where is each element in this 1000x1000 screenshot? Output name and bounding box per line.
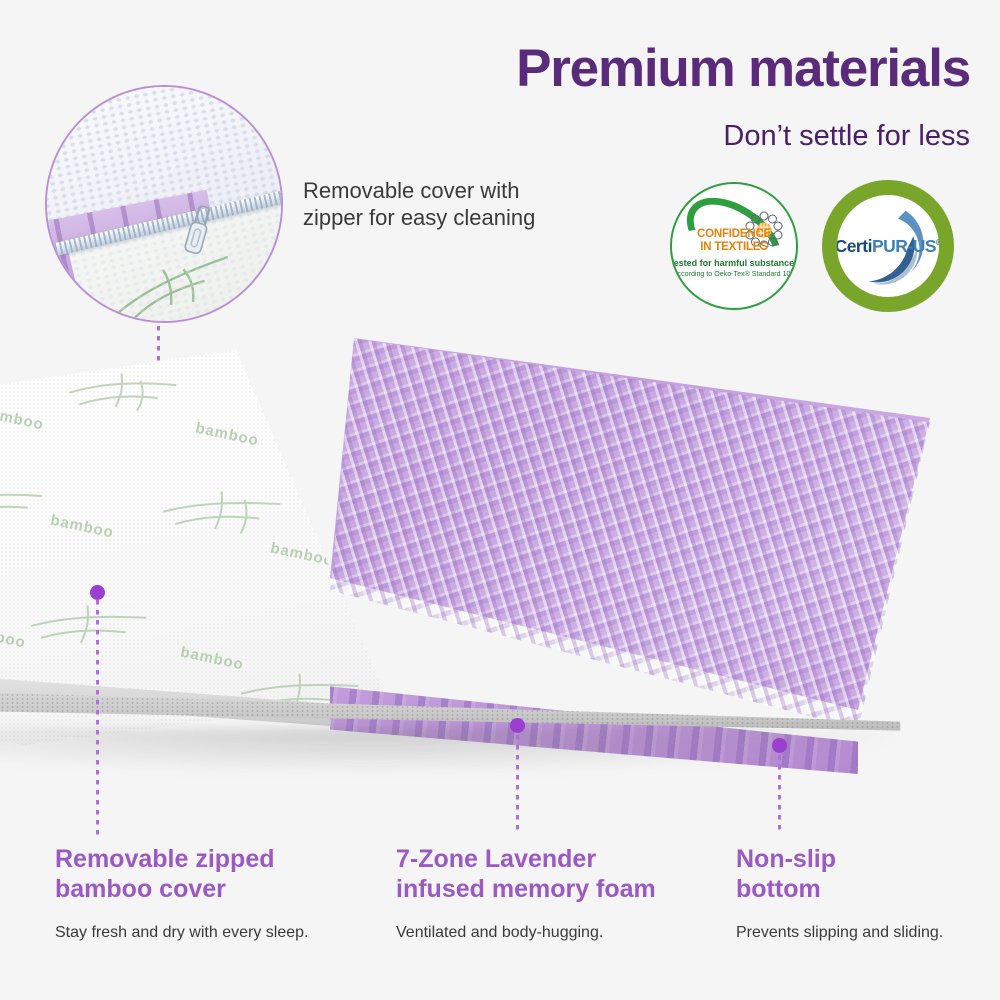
oeko-line1: CONFIDENCE (670, 228, 798, 241)
oeko-line4: according to Oeko-Tex® Standard 100 (670, 270, 798, 278)
mattress-illustration: bamboo bamboo bamboo bamboo bamboo bambo… (0, 330, 940, 770)
certification-badges: CONFIDENCE IN TEXTILES Tested for harmfu… (660, 182, 980, 314)
foam-egg-crate-texture (330, 330, 930, 750)
zipper-callout-line2: zipper for easy cleaning (303, 205, 603, 232)
oeko-line3: Tested for harmful substances (670, 258, 798, 268)
certipur-registered: ® (936, 238, 941, 247)
feature-subtitle: Ventilated and body-hugging. (396, 924, 716, 942)
zipper-detail-circle (45, 85, 283, 323)
feature-memory-foam: 7-Zone Lavender infused memory foam Vent… (396, 845, 716, 942)
feature-title: 7-Zone Lavender infused memory foam (396, 845, 716, 904)
callout-dot-nonslip (772, 738, 787, 753)
zipper-callout-line1: Removable cover with (303, 178, 603, 205)
feature-removable-cover: Removable zipped bamboo cover Stay fresh… (55, 845, 375, 942)
feature-subtitle: Stay fresh and dry with every sleep. (55, 924, 375, 942)
page-title: Premium materials (516, 38, 970, 99)
page-subtitle: Don’t settle for less (723, 120, 970, 153)
oeko-tex-badge: CONFIDENCE IN TEXTILES Tested for harmfu… (670, 182, 798, 310)
feature-list: Removable zipped bamboo cover Stay fresh… (0, 845, 1000, 965)
feature-title: Removable zipped bamboo cover (55, 845, 375, 904)
convoluted-memory-foam (330, 330, 930, 750)
feature-title: Non-slip bottom (736, 845, 996, 904)
callout-line-foam (516, 735, 519, 835)
oeko-line2: IN TEXTILES (670, 241, 798, 254)
certipur-label-light: PUR-US (872, 236, 936, 256)
product-infographic: Premium materials Don’t settle for less (0, 0, 1000, 1000)
feature-subtitle: Prevents slipping and sliding. (736, 924, 996, 942)
callout-dot-foam (510, 718, 525, 733)
callout-line-nonslip (778, 755, 781, 835)
certipur-label-dark: Certi (835, 236, 872, 256)
zipper-callout-text: Removable cover with zipper for easy cle… (303, 178, 603, 232)
certipur-label: CertiPUR-US® (835, 236, 942, 257)
certipur-badge: CONTAINS CERTIFIED FLEXIBLE POLYURETHANE… (822, 180, 954, 312)
callout-dot-bamboo-cover (90, 585, 105, 600)
feature-non-slip: Non-slip bottom Prevents slipping and sl… (736, 845, 996, 942)
mattress-drop-shadow (0, 728, 900, 774)
callout-line-bamboo-cover (96, 600, 99, 835)
